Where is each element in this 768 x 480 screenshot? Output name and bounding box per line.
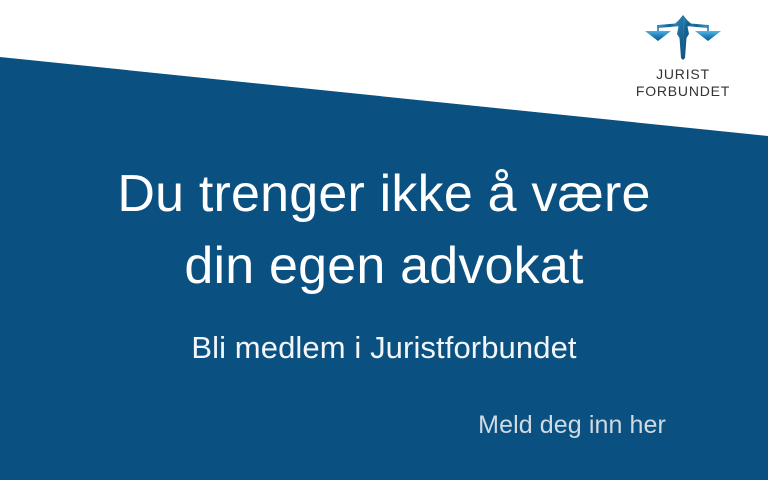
join-now-link[interactable]: Meld deg inn her [478,408,666,442]
subtitle: Bli medlem i Juristforbundet [0,327,768,369]
juristforbundet-logo[interactable]: JURIST FORBUNDET [620,14,746,99]
logo-line-jurist: JURIST [620,66,746,83]
scales-of-justice-icon [640,14,726,60]
logo-line-forbundet: FORBUNDET [620,83,746,100]
headline-line-1: Du trenger ikke å være [0,158,768,230]
subtitle-text: Bli medlem i Juristforbundet [191,327,576,369]
logo-wordmark: JURIST FORBUNDET [620,66,746,99]
headline: Du trenger ikke å være din egen advokat [0,158,768,302]
promo-banner: JURIST FORBUNDET Du trenger ikke å være … [0,0,768,480]
headline-line-2: din egen advokat [0,230,768,302]
cta-container: Meld deg inn her [0,408,768,442]
